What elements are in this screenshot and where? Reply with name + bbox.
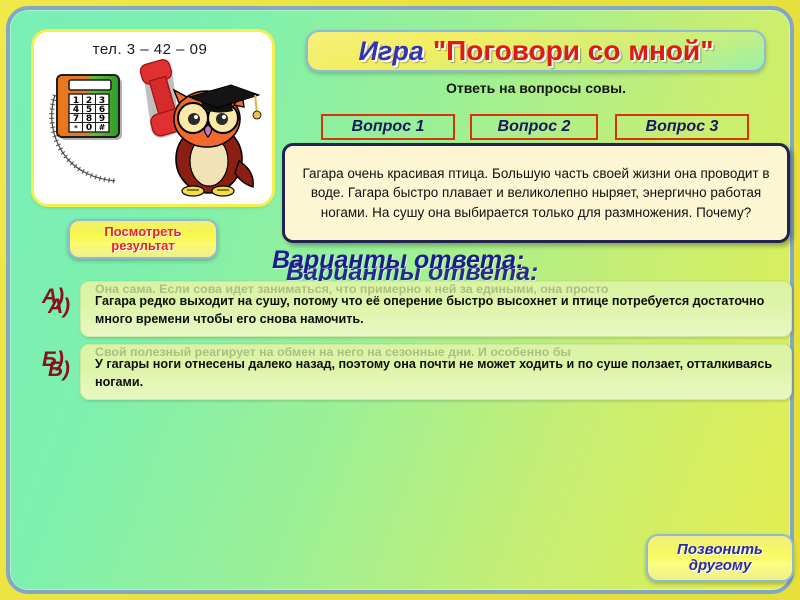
slide-root: тел. 3 – 42 – 09 [0,0,800,600]
svg-text:*: * [74,124,78,132]
answer-letter-b: Б) Б) [38,348,82,396]
answer-option-a[interactable]: Она сама. Если сова идет заниматься, что… [80,281,792,337]
answer-a-ghost-line: Она сама. Если сова идет заниматься, что… [95,283,779,296]
owl-phone-illustration-card: тел. 3 – 42 – 09 [34,32,272,204]
answer-letter-a: А) А) [38,285,82,333]
answer-option-b[interactable]: Свой полезный реагирует на обмен на него… [80,344,792,400]
answer-variants-heading-group: Варианты ответа: Варианты ответа: [272,246,572,286]
desk-telephone-icon: 123 456 789 *0# [43,61,139,191]
show-result-label-line2: результат [111,239,174,253]
question-text: Гагара очень красивая птица. Большую час… [299,164,773,221]
answer-letter-b-shadow: Б) [48,358,70,382]
owl-professor-icon [133,57,263,199]
title-word-name: "Поговори со мной" [433,35,714,67]
answer-row-a: А) А) Она сама. Если сова идет заниматьс… [32,281,792,337]
answer-b-ghost-line: Свой полезный реагирует на обмен на него… [95,346,779,359]
question-panel: Гагара очень красивая птица. Большую час… [282,143,790,243]
svg-text:#: # [99,123,106,132]
game-title-banner: Игра "Поговори со мной" [306,30,766,72]
svg-text:0: 0 [86,123,92,133]
telephone-number-label: тел. 3 – 42 – 09 [37,41,263,58]
show-result-label-line1: Посмотреть [104,225,181,239]
show-result-button[interactable]: Посмотреть результат [68,219,218,259]
slide-inner-frame: тел. 3 – 42 – 09 [6,6,794,594]
answer-a-text: Гагара редко выходит на сушу, потому что… [95,292,779,329]
call-another-button[interactable]: Позвонить другому [646,534,794,582]
answer-row-b: Б) Б) Свой полезный реагирует на обмен н… [32,344,792,400]
answer-b-text: У гагары ноги отнесены далеко назад, поэ… [95,355,779,392]
tab-question-3[interactable]: Вопрос 3 [615,114,749,140]
tab-question-1[interactable]: Вопрос 1 [321,114,455,140]
question-tab-bar: Вопрос 1 Вопрос 2 Вопрос 3 [315,114,775,140]
instruction-subtitle: Ответь на вопросы совы. [306,80,766,96]
tab-question-2[interactable]: Вопрос 2 [470,114,598,140]
call-another-label-line1: Позвонить [677,542,763,558]
answer-variants-heading: Варианты ответа: [272,246,524,275]
call-another-label-line2: другому [689,558,752,574]
title-word-game: Игра [359,36,424,67]
answer-letter-a-shadow: А) [48,295,70,319]
